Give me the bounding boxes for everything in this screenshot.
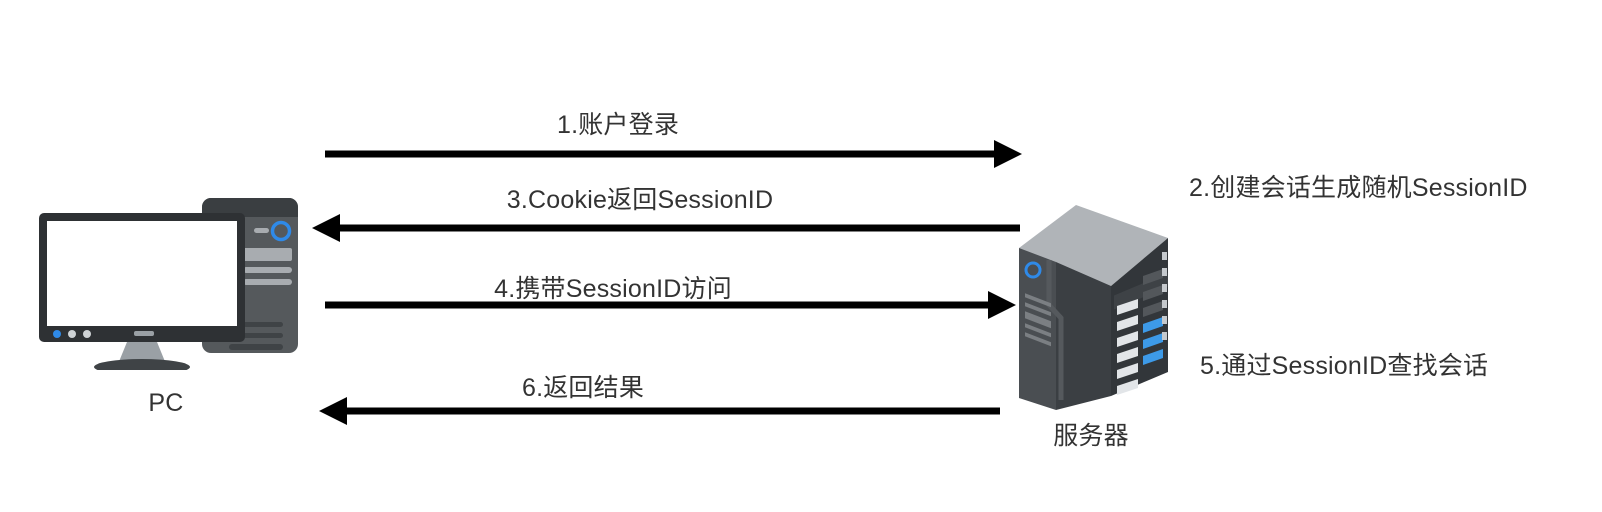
active-indicator [1143, 317, 1163, 365]
message-label-3: 3.Cookie返回SessionID [507, 188, 773, 213]
note-label-2: 2.创建会话生成随机SessionID [1189, 176, 1528, 201]
message-label-4: 4.携带SessionID访问 [494, 277, 732, 302]
desktop-computer-icon [36, 193, 298, 370]
server-caption: 服务器 [1053, 424, 1129, 449]
pc-caption: PC [148, 391, 183, 416]
message-label-1: 1.账户登录 [557, 113, 679, 138]
arrow-message-6 [319, 397, 1000, 425]
note-label-5: 5.通过SessionID查找会话 [1200, 354, 1488, 379]
server-rack-icon [1014, 200, 1168, 410]
arrow-message-1 [325, 140, 1022, 168]
message-label-6: 6.返回结果 [522, 376, 644, 401]
arrow-message-3 [312, 214, 1020, 242]
